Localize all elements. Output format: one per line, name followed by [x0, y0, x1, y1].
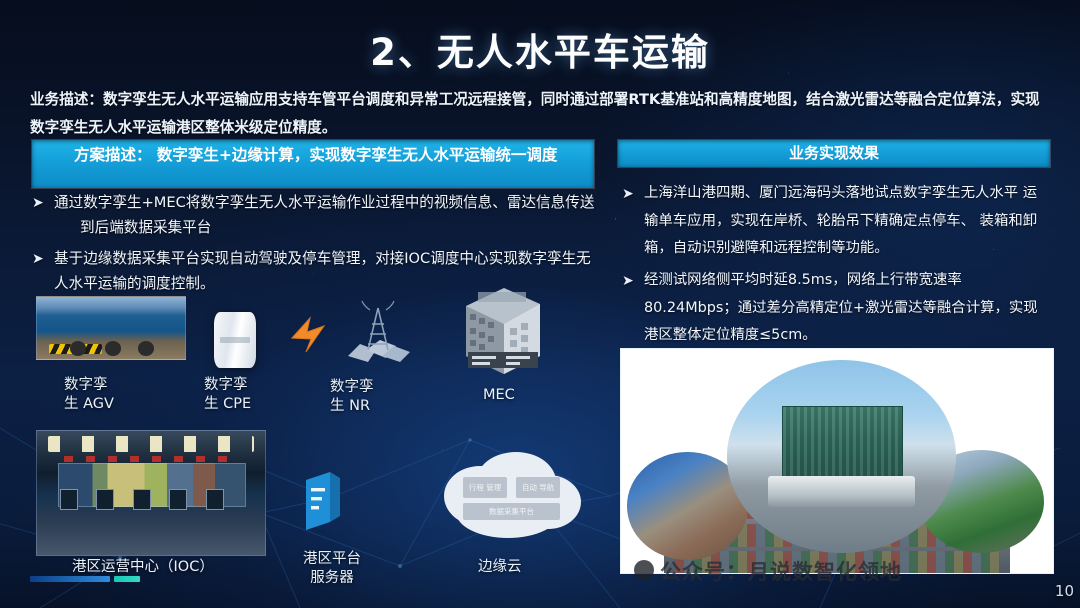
- mec-server-building-icon: [456, 278, 548, 376]
- ceiling-lights: [48, 436, 253, 452]
- agv-wheel: [138, 341, 154, 356]
- watermark-logo-icon: [634, 560, 654, 580]
- arrow-marker-icon: ➤: [622, 268, 634, 295]
- ioc-control-room-photo: [36, 430, 266, 556]
- right-bullet-2: ➤ 经测试网络侧平均时延8.5ms，网络上行带宽速率80.24Mbps；通过差分…: [620, 267, 1050, 350]
- business-description-label: 业务描述：: [30, 91, 103, 108]
- desk-monitor: [169, 489, 187, 511]
- port-photo-collage: [620, 348, 1054, 574]
- ioc-accent-bar: [30, 576, 110, 582]
- desk-monitor: [96, 489, 114, 511]
- arrow-marker-icon: ➤: [32, 191, 44, 215]
- business-effect-banner: 业务实现效果: [618, 140, 1050, 167]
- shipping-container: [782, 406, 903, 481]
- container-stack-row: [675, 551, 1000, 574]
- business-description: 业务描述：数字孪生无人水平运输应用支持车管平台调度和异常工况远程接管，同时通过部…: [30, 86, 1052, 143]
- label-ioc: 港区运营中心（IOC）: [72, 558, 214, 577]
- ioc-accent-bar-teal: [114, 576, 140, 582]
- slide-root: 2、无人水平车运输 业务描述：数字孪生无人水平运输应用支持车管平台调度和异常工况…: [0, 0, 1080, 608]
- right-bullet-1-text: 上海洋山港四期、厦门远海码头落地试点数字孪生无人水平 运输单车应用，实现在岸桥、…: [644, 185, 1037, 256]
- platform-server-icon: [300, 470, 344, 532]
- agv-wheel: [105, 341, 121, 356]
- arrow-marker-icon: ➤: [32, 247, 44, 271]
- label-platform-server: 港区平台 服务器: [297, 550, 367, 588]
- plan-description-banner: 方案描述： 数字孪生+边缘计算，实现数字孪生无人水平运输统一调度: [32, 140, 594, 188]
- container-corrugation: [783, 407, 902, 480]
- nr-antenna-tower-icon: [330, 300, 426, 366]
- cloud-box-data-platform: 数据采集平台: [463, 503, 560, 520]
- left-bullet-1-sub: 到后端数据采集平台: [54, 215, 600, 240]
- agv-wheel: [70, 341, 86, 356]
- label-cpe: 数字孪 生 CPE: [204, 376, 294, 414]
- label-edge-cloud: 边缘云: [478, 558, 522, 577]
- desk-monitor: [206, 489, 224, 511]
- agv-vehicle-photo: [36, 296, 186, 360]
- led-ticker: [64, 456, 237, 462]
- cloud-box-trip-management: 行程 管理: [463, 477, 507, 498]
- label-agv: 数字孪 生 AGV: [64, 376, 154, 414]
- business-description-text: 数字孪生无人水平运输应用支持车管平台调度和异常工况远程接管，同时通过部署RTK基…: [30, 91, 1040, 136]
- slide-title: 2、无人水平车运输: [0, 22, 1080, 76]
- agv-chassis: [768, 476, 915, 507]
- desk-monitor: [133, 489, 151, 511]
- agv-container-truck-photo: [727, 360, 956, 553]
- agv-body-shape: [46, 312, 167, 344]
- cpe-device-icon: [214, 312, 256, 368]
- cpe-label-strip: [220, 337, 250, 344]
- left-bullet-1: ➤ 通过数字孪生+MEC将数字孪生无人水平运输作业过程中的视频信息、雷达信息传送…: [30, 190, 600, 240]
- right-bullet-1: ➤ 上海洋山港四期、厦门远海码头落地试点数字孪生无人水平 运输单车应用，实现在岸…: [620, 180, 1050, 263]
- edge-cloud-icon: 行程 管理 自动 导航 数据采集平台: [432, 450, 588, 546]
- right-bullet-list: ➤ 上海洋山港四期、厦门远海码头落地试点数字孪生无人水平 运输单车应用，实现在岸…: [620, 180, 1050, 354]
- label-mec: MEC: [483, 386, 515, 405]
- operator-desks: [44, 510, 258, 550]
- page-number: 10: [1055, 582, 1074, 600]
- label-nr: 数字孪 生 NR: [330, 378, 420, 416]
- desk-monitor: [60, 489, 78, 511]
- arrow-marker-icon: ➤: [622, 181, 634, 208]
- right-bullet-2-text: 经测试网络侧平均时延8.5ms，网络上行带宽速率80.24Mbps；通过差分高精…: [644, 272, 1038, 343]
- cloud-box-auto-navigation: 自动 导航: [516, 477, 560, 498]
- left-bullet-1-text: 通过数字孪生+MEC将数字孪生无人水平运输作业过程中的视频信息、雷达信息传送: [54, 194, 594, 211]
